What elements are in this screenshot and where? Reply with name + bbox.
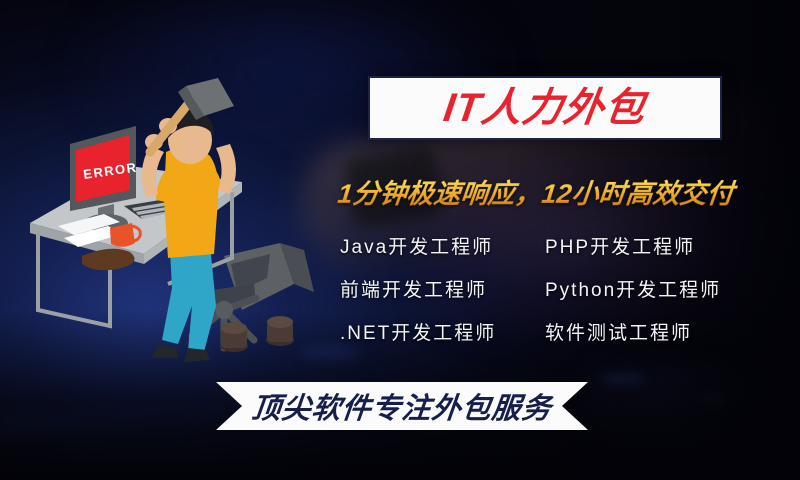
service-item: .NET开发工程师 (340, 318, 545, 345)
service-list: Java开发工程师 PHP开发工程师 前端开发工程师 Python开发工程师 .… (340, 224, 790, 353)
service-item: 软件测试工程师 (545, 318, 692, 345)
service-row: 前端开发工程师 Python开发工程师 (340, 267, 790, 310)
service-item: PHP开发工程师 (545, 232, 695, 259)
page-title: IT人力外包 (441, 88, 648, 128)
developer-illustration: ERROR (18, 78, 318, 368)
promo-banner: ERROR (0, 0, 800, 480)
title-banner: IT人力外包 (368, 76, 722, 140)
service-item: Java开发工程师 (340, 232, 545, 259)
service-item: 前端开发工程师 (340, 275, 545, 302)
service-row: Java开发工程师 PHP开发工程师 (340, 224, 790, 267)
bottom-ribbon: 顶尖软件专注外包服务 (216, 382, 588, 430)
subtitle-text: 1分钟极速响应，12小时高效交付 (336, 172, 788, 210)
service-item: Python开发工程师 (545, 275, 721, 302)
service-row: .NET开发工程师 软件测试工程师 (340, 310, 790, 353)
ribbon-text: 顶尖软件专注外包服务 (250, 385, 554, 427)
